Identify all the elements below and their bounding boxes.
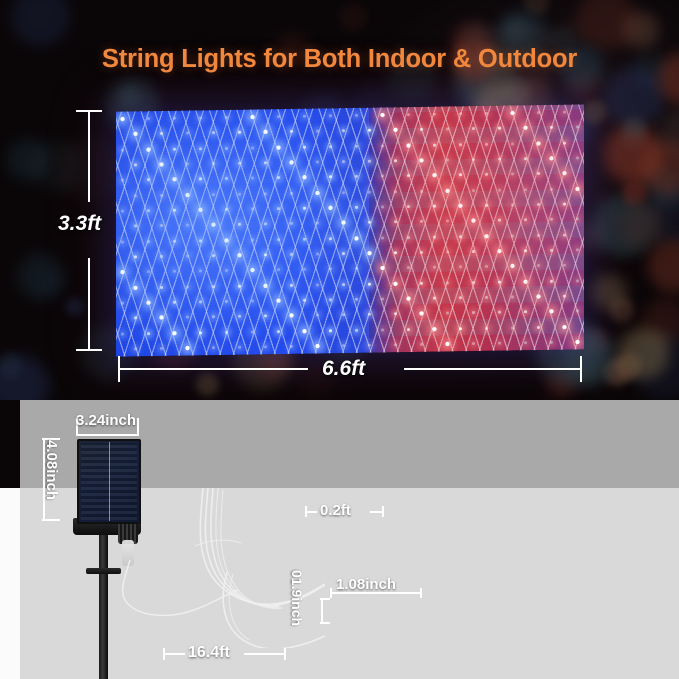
solar-panel-seam	[109, 442, 110, 521]
led-node	[276, 298, 280, 302]
bokeh-circle	[591, 274, 627, 310]
led-node	[537, 326, 540, 329]
led-node	[550, 341, 553, 344]
led-node	[445, 188, 449, 192]
led-node	[212, 193, 215, 196]
led-node	[406, 296, 410, 300]
led-node	[367, 251, 371, 255]
led-node	[381, 297, 384, 300]
led-node	[394, 251, 397, 254]
led-node	[433, 297, 436, 300]
led-node	[472, 342, 475, 345]
led-node	[563, 141, 566, 144]
led-node	[524, 249, 527, 252]
led-node	[316, 283, 319, 286]
led-node	[147, 240, 150, 243]
led-node	[523, 279, 527, 283]
led-node	[316, 252, 319, 255]
bokeh-circle	[11, 0, 70, 46]
led-node	[433, 143, 436, 146]
led-node	[329, 237, 332, 240]
led-node	[329, 329, 332, 332]
led-node	[498, 341, 501, 344]
led-node	[329, 298, 332, 301]
led-node	[342, 252, 345, 255]
led-node	[290, 345, 293, 348]
led-node	[446, 250, 449, 253]
led-node	[315, 191, 319, 195]
height-ruler-cap-bottom	[76, 349, 102, 351]
width-ruler-cap-right	[580, 356, 582, 382]
led-node	[263, 283, 267, 287]
bulb-length-tick-right	[420, 588, 422, 598]
led-node	[212, 285, 215, 288]
hero-dark-background: String Lights for Both Indoor & Outdoor …	[0, 0, 679, 400]
led-node	[199, 300, 202, 303]
led-node	[459, 235, 462, 238]
led-node	[225, 330, 228, 333]
bokeh-circle	[618, 328, 669, 379]
led-node	[121, 301, 124, 304]
led-node	[406, 143, 410, 147]
led-node	[212, 346, 215, 349]
led-node	[199, 239, 202, 242]
height-ruler-line-lower	[88, 258, 90, 350]
bokeh-circle	[196, 373, 219, 396]
led-node	[485, 326, 488, 329]
led-node	[420, 251, 423, 254]
led-node	[185, 193, 189, 197]
led-node	[381, 328, 384, 331]
net-width-label: 6.6ft	[322, 357, 365, 381]
led-node	[264, 345, 267, 348]
spacing-tick-right	[382, 506, 384, 517]
led-node	[121, 148, 124, 151]
bokeh-circle	[647, 238, 679, 293]
panel-width-label: 3.24inch	[76, 412, 136, 429]
led-node	[393, 281, 397, 285]
panel-height-label: 4.08inch	[43, 440, 60, 500]
bokeh-circle	[620, 204, 664, 248]
led-node	[160, 286, 163, 289]
led-node	[276, 145, 280, 149]
led-node	[225, 300, 228, 303]
led-node	[575, 186, 579, 190]
bulb-diameter-label: 01.9inch	[289, 570, 305, 626]
led-node	[420, 281, 423, 284]
led-node	[420, 190, 423, 193]
led-node	[354, 236, 358, 240]
led-node	[224, 238, 228, 242]
cable-length-line-left	[163, 653, 185, 655]
ground-stake	[99, 533, 108, 679]
led-node	[173, 148, 176, 151]
led-node	[511, 326, 514, 329]
led-node	[290, 192, 293, 195]
led-node	[355, 328, 358, 331]
led-node	[225, 147, 228, 150]
led-node	[576, 279, 579, 282]
led-node	[459, 296, 462, 299]
led-node	[134, 347, 137, 350]
led-node	[511, 295, 514, 298]
led-node	[186, 254, 189, 257]
product-infographic: String Lights for Both Indoor & Outdoor …	[0, 0, 679, 679]
led-node	[433, 235, 436, 238]
led-node	[485, 296, 488, 299]
cable-length-tick-right	[284, 648, 286, 660]
led-node	[173, 301, 176, 304]
led-node	[575, 340, 579, 344]
stake-collar	[86, 568, 121, 574]
cable-length-label: 16.4ft	[188, 644, 230, 662]
led-node	[432, 326, 436, 330]
bokeh-circle	[622, 180, 647, 205]
led-node	[134, 255, 137, 258]
led-node	[264, 192, 267, 195]
led-node	[146, 300, 150, 304]
led-node	[264, 253, 267, 256]
led-node	[420, 343, 423, 346]
led-node	[238, 192, 241, 195]
led-node	[407, 328, 410, 331]
led-node	[445, 342, 449, 346]
led-node	[381, 236, 384, 239]
led-node	[563, 295, 566, 298]
width-ruler-line-right	[404, 368, 582, 370]
led-node	[160, 194, 163, 197]
led-node	[277, 330, 280, 333]
lower-left-black-margin	[0, 400, 20, 488]
led-node	[368, 344, 371, 347]
bulb-length-label: 1.08inch	[336, 576, 396, 593]
bokeh-circle	[339, 4, 367, 32]
led-node	[550, 249, 553, 252]
led-node	[302, 329, 306, 333]
led-node	[342, 191, 345, 194]
led-node	[472, 189, 475, 192]
led-node	[407, 236, 410, 239]
led-node	[485, 143, 488, 146]
led-node	[459, 143, 462, 146]
cable-run-to-plug	[118, 560, 238, 630]
led-node	[251, 146, 254, 149]
led-node	[303, 299, 306, 302]
led-node	[368, 190, 371, 193]
bokeh-circle	[582, 100, 606, 124]
led-node	[576, 248, 579, 251]
led-node	[251, 299, 254, 302]
led-node	[160, 347, 163, 350]
led-node	[133, 285, 137, 289]
led-node	[186, 285, 189, 288]
page-title: String Lights for Both Indoor & Outdoor	[0, 45, 679, 74]
led-node	[472, 250, 475, 253]
led-node	[251, 330, 254, 333]
led-node	[459, 327, 462, 330]
led-node	[472, 281, 475, 284]
led-node	[524, 341, 527, 344]
led-node	[277, 238, 280, 241]
led-node	[290, 253, 293, 256]
led-node	[550, 279, 553, 282]
led-node	[484, 234, 488, 238]
net-height-label: 3.3ft	[58, 212, 101, 236]
solar-panel	[77, 439, 141, 524]
led-node	[172, 331, 176, 335]
led-node	[134, 194, 137, 197]
led-node	[394, 343, 397, 346]
led-node	[212, 254, 215, 257]
led-node	[303, 237, 306, 240]
led-node	[199, 147, 202, 150]
led-node	[394, 190, 397, 193]
led-node	[381, 144, 384, 147]
led-node	[497, 249, 501, 253]
led-node	[563, 233, 566, 236]
led-node	[550, 188, 553, 191]
led-node	[536, 294, 540, 298]
led-node	[342, 344, 345, 347]
american-flag-net-light	[116, 104, 584, 356]
lower-left-white-margin	[0, 488, 20, 679]
led-node	[511, 234, 514, 237]
led-node	[121, 240, 124, 243]
led-node	[237, 253, 241, 257]
led-node	[199, 331, 202, 334]
bokeh-circle	[623, 115, 646, 138]
width-ruler-line-left	[118, 368, 308, 370]
led-node	[355, 145, 358, 148]
led-node	[446, 281, 449, 284]
led-node	[524, 188, 527, 191]
led-node	[121, 332, 124, 335]
led-node	[368, 282, 371, 285]
led-node	[303, 145, 306, 148]
led-node	[537, 234, 540, 237]
led-node	[498, 188, 501, 191]
led-node	[238, 284, 241, 287]
led-node	[562, 324, 566, 328]
led-node	[173, 239, 176, 242]
cable-length-line-right	[244, 653, 286, 655]
led-node	[498, 280, 501, 283]
led-node	[290, 283, 293, 286]
led-node	[315, 344, 319, 348]
panel-width-line	[76, 434, 139, 436]
led-node	[147, 332, 150, 335]
led-node	[160, 255, 163, 258]
lower-product-section: 3.24inch 4.08inch 16.4ft	[0, 400, 679, 679]
led-node	[511, 142, 514, 145]
led-node	[329, 145, 332, 148]
led-node	[251, 238, 254, 241]
bokeh-circle	[0, 355, 49, 400]
led-node	[238, 346, 241, 349]
spacing-line-left	[305, 511, 317, 513]
bulb-diameter-line	[321, 598, 323, 624]
led-node	[536, 141, 540, 145]
led-node	[146, 147, 150, 151]
height-ruler-line-upper	[88, 110, 90, 202]
led-node	[355, 298, 358, 301]
bokeh-circle	[65, 297, 84, 316]
led-node	[185, 346, 189, 350]
led-node	[342, 283, 345, 286]
bulb-spacing-label: 0.2ft	[320, 502, 351, 519]
